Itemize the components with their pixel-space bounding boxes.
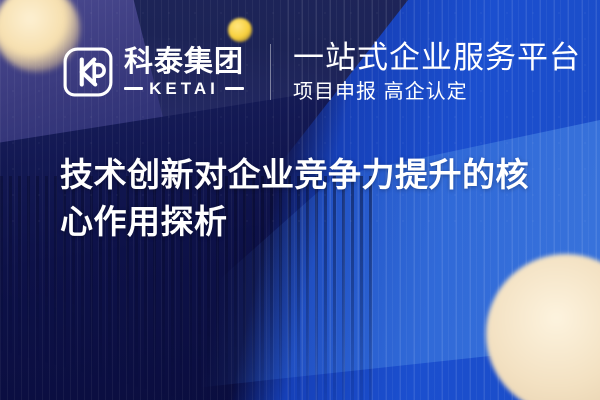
tagline-sub: 项目申报 高企认定 (293, 81, 581, 103)
brand-wordmark: 科泰集团 KETAI (124, 47, 244, 97)
brand-divider (270, 44, 271, 100)
tagline-main: 一站式企业服务平台 (293, 41, 581, 76)
wordmark-dash-right-icon (225, 87, 244, 90)
article-cover-banner: 科泰集团 KETAI 一站式企业服务平台 项目申报 高企认定 技术创新对企业竞争… (0, 0, 600, 400)
wordmark-dash-left-icon (124, 87, 143, 90)
brand-name-en: KETAI (149, 80, 219, 97)
tagline-block: 一站式企业服务平台 项目申报 高企认定 (293, 41, 581, 103)
ketai-diamond-monogram-icon (62, 46, 114, 98)
brand-name-en-row: KETAI (124, 80, 244, 97)
page-title: 技术创新对企业竞争力提升的核心作用探析 (60, 152, 560, 246)
brand-header: 科泰集团 KETAI 一站式企业服务平台 项目申报 高企认定 (62, 41, 581, 103)
brand-name-cn: 科泰集团 (124, 47, 244, 77)
